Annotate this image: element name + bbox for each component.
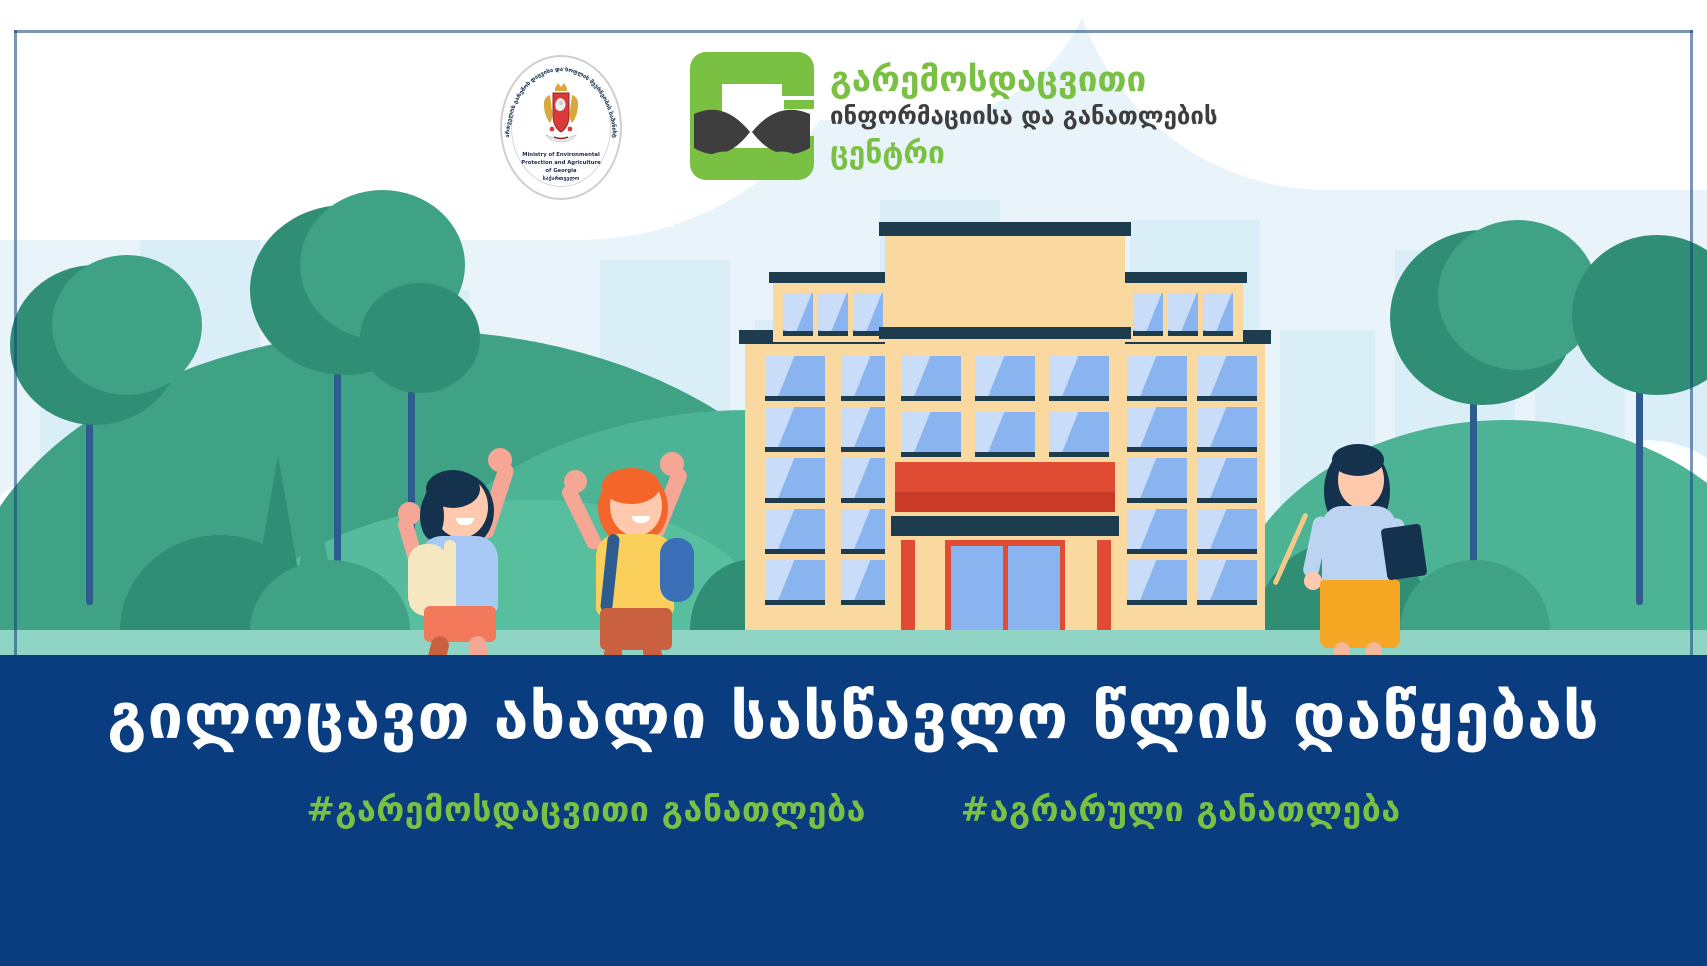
window-sill — [1127, 447, 1187, 452]
georgia-coat-of-arms-icon — [536, 79, 586, 147]
building-cornice — [879, 327, 1131, 339]
window-sill — [1133, 331, 1163, 336]
building-window — [1197, 356, 1257, 396]
hand — [564, 470, 587, 493]
window-sill — [975, 452, 1035, 457]
logo-line-3: ცენტრი — [830, 136, 945, 171]
building-window — [1168, 293, 1198, 331]
logo-line-2: ინფორმაციისა და განათლების — [830, 102, 1218, 130]
building-window — [1197, 560, 1257, 600]
blue-banner-footer — [0, 915, 1707, 966]
window-sill — [1127, 396, 1187, 401]
logo-line-1: გარემოსდაცვითი — [830, 60, 1146, 100]
folder — [1381, 523, 1428, 580]
window-sill — [818, 331, 848, 336]
entrance-sign-band — [895, 462, 1115, 492]
building-window — [765, 356, 825, 396]
hair-front — [602, 468, 660, 504]
building-window — [1197, 407, 1257, 447]
seal-english-text: Ministry of Environmental Protection and… — [500, 152, 622, 184]
window-sill — [975, 396, 1035, 401]
child-waving-left — [388, 440, 568, 675]
building-window — [1049, 412, 1109, 452]
building-window — [975, 412, 1035, 452]
seal-en-line2: Protection and Agriculture — [500, 160, 622, 168]
entrance-door-glass — [951, 546, 1003, 630]
logo-mark-book-icon — [690, 52, 814, 180]
seal-en-line1: Ministry of Environmental — [500, 152, 622, 160]
window-sill — [901, 396, 961, 401]
hashtags-row: #გარემოსდაცვითი განათლება #აგრარული განა… — [0, 790, 1707, 830]
building-window — [1127, 560, 1187, 600]
building-roof — [879, 222, 1131, 236]
window-sill — [1197, 447, 1257, 452]
seal-en-line4: საქართველო — [500, 176, 622, 184]
building-window — [765, 407, 825, 447]
hashtag-environmental-education: #გარემოსდაცვითი განათლება — [306, 790, 866, 830]
building-window — [818, 293, 848, 331]
window-sill — [765, 600, 825, 605]
building-window — [975, 356, 1035, 396]
window-sill — [1049, 396, 1109, 401]
building-window — [765, 560, 825, 600]
window-sill — [1197, 396, 1257, 401]
building-window — [853, 293, 883, 331]
building-window — [1127, 407, 1187, 447]
building-roof — [769, 272, 897, 283]
poster-root: საქართველოს გარემოს დაცვისა და სოფლის მე… — [0, 0, 1707, 966]
tree-canopy — [360, 283, 480, 393]
building-window — [1127, 458, 1187, 498]
backpack — [660, 538, 694, 602]
window-sill — [765, 498, 825, 503]
headline-text: გილოცავთ ახალი სასწავლო წლის დაწყებას — [0, 682, 1707, 751]
window-sill — [1197, 498, 1257, 503]
building-window — [1203, 293, 1233, 331]
tree-canopy — [52, 255, 202, 395]
building-window — [783, 293, 813, 331]
building-window — [1127, 356, 1187, 396]
child-waving-right — [548, 448, 728, 683]
window-sill — [1197, 549, 1257, 554]
hand — [398, 502, 421, 525]
window-sill — [1197, 600, 1257, 605]
window-sill — [1127, 600, 1187, 605]
decorative-frame-top — [14, 30, 1693, 33]
window-sill — [1049, 452, 1109, 457]
entrance-pillar — [1097, 540, 1111, 630]
window-sill — [765, 396, 825, 401]
entrance-canopy — [891, 516, 1119, 536]
entrance-pillar — [901, 540, 915, 630]
entrance-door-glass — [1008, 546, 1060, 630]
window-sill — [1127, 498, 1187, 503]
decorative-blob — [1067, 0, 1707, 190]
window-sill — [1127, 549, 1187, 554]
school-building — [745, 230, 1265, 630]
window-sill — [1203, 331, 1233, 336]
window-sill — [901, 452, 961, 457]
building-window — [901, 412, 961, 452]
building-window — [1197, 458, 1257, 498]
illustration-scene: საქართველოს გარემოს დაცვისა და სოფლის მე… — [0, 0, 1707, 725]
backpack-strap — [444, 540, 456, 610]
building-window — [765, 509, 825, 549]
skirt — [1320, 580, 1400, 648]
seal-en-line3: of Georgia — [500, 168, 622, 176]
building-window — [1197, 509, 1257, 549]
hand — [488, 448, 512, 472]
teacher-with-pointer — [1300, 440, 1430, 690]
decorative-frame-left — [14, 30, 17, 690]
window-sill — [765, 447, 825, 452]
hair-side — [420, 492, 444, 540]
building-window — [1049, 356, 1109, 396]
decorative-frame-right — [1690, 30, 1693, 690]
building-window — [1133, 293, 1163, 331]
building-window — [765, 458, 825, 498]
environmental-information-and-education-center-logo: გარემოსდაცვითი ინფორმაციისა და განათლები… — [690, 52, 1120, 180]
ministry-seal: საქართველოს გარემოს დაცვისა და სოფლის მე… — [500, 55, 622, 200]
window-sill — [1168, 331, 1198, 336]
hand — [660, 452, 684, 476]
entrance-sign-band-shadow — [895, 492, 1115, 512]
hashtag-agricultural-education: #აგრარული განათლება — [961, 790, 1401, 830]
hair-front — [1332, 444, 1384, 476]
window-sill — [765, 549, 825, 554]
building-window — [901, 356, 961, 396]
building-window — [1127, 509, 1187, 549]
building-roof — [1119, 272, 1247, 283]
window-sill — [783, 331, 813, 336]
